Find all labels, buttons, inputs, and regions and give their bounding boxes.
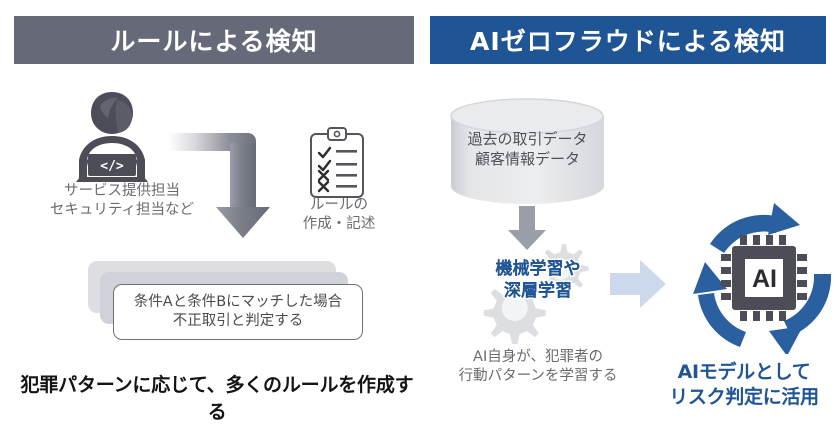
rule-card-text: 条件Aと条件Bにマッチした場合 不正取引と判定する — [134, 293, 342, 331]
person-with-laptop-icon: </> — [62, 88, 162, 186]
right-panel-caption: AIモデルとして リスク判定に活用 — [648, 360, 840, 410]
ai-cpu-chip-icon: AI — [721, 235, 807, 321]
rule-card-front: 条件Aと条件Bにマッチした場合 不正取引と判定する — [113, 284, 363, 340]
infographic-canvas: ルールによる検知 AIゼロフラウドによる検知 </> サービス提供担当 セキュリ… — [0, 0, 840, 420]
clipboard-checklist-icon — [306, 126, 368, 200]
elbow-down-arrow-icon — [168, 125, 278, 240]
code-glyph: </> — [100, 159, 124, 174]
machine-learning-label: 機械学習や 深層学習 — [462, 258, 614, 303]
right-block-arrow-icon — [610, 258, 668, 310]
database-label: 過去の取引データ 顧客情報データ — [445, 130, 610, 169]
left-panel-caption: 犯罪パターンに応じて、多くのルールを作成する — [14, 370, 420, 424]
rule-detection-banner-title: ルールによる検知 — [110, 22, 317, 58]
ai-detection-banner: AIゼロフラウドによる検知 — [430, 16, 826, 64]
chip-label: AI — [752, 265, 777, 293]
rule-detection-banner: ルールによる検知 — [14, 16, 414, 64]
rule-write-label: ルールの 作成・記述 — [296, 196, 382, 233]
ai-detection-banner-title: AIゼロフラウドによる検知 — [470, 22, 786, 58]
ai-model-cycle-icon: AI — [688, 202, 840, 354]
ai-learning-label: AI自身が、犯罪者の 行動パターンを学習する — [432, 348, 644, 385]
